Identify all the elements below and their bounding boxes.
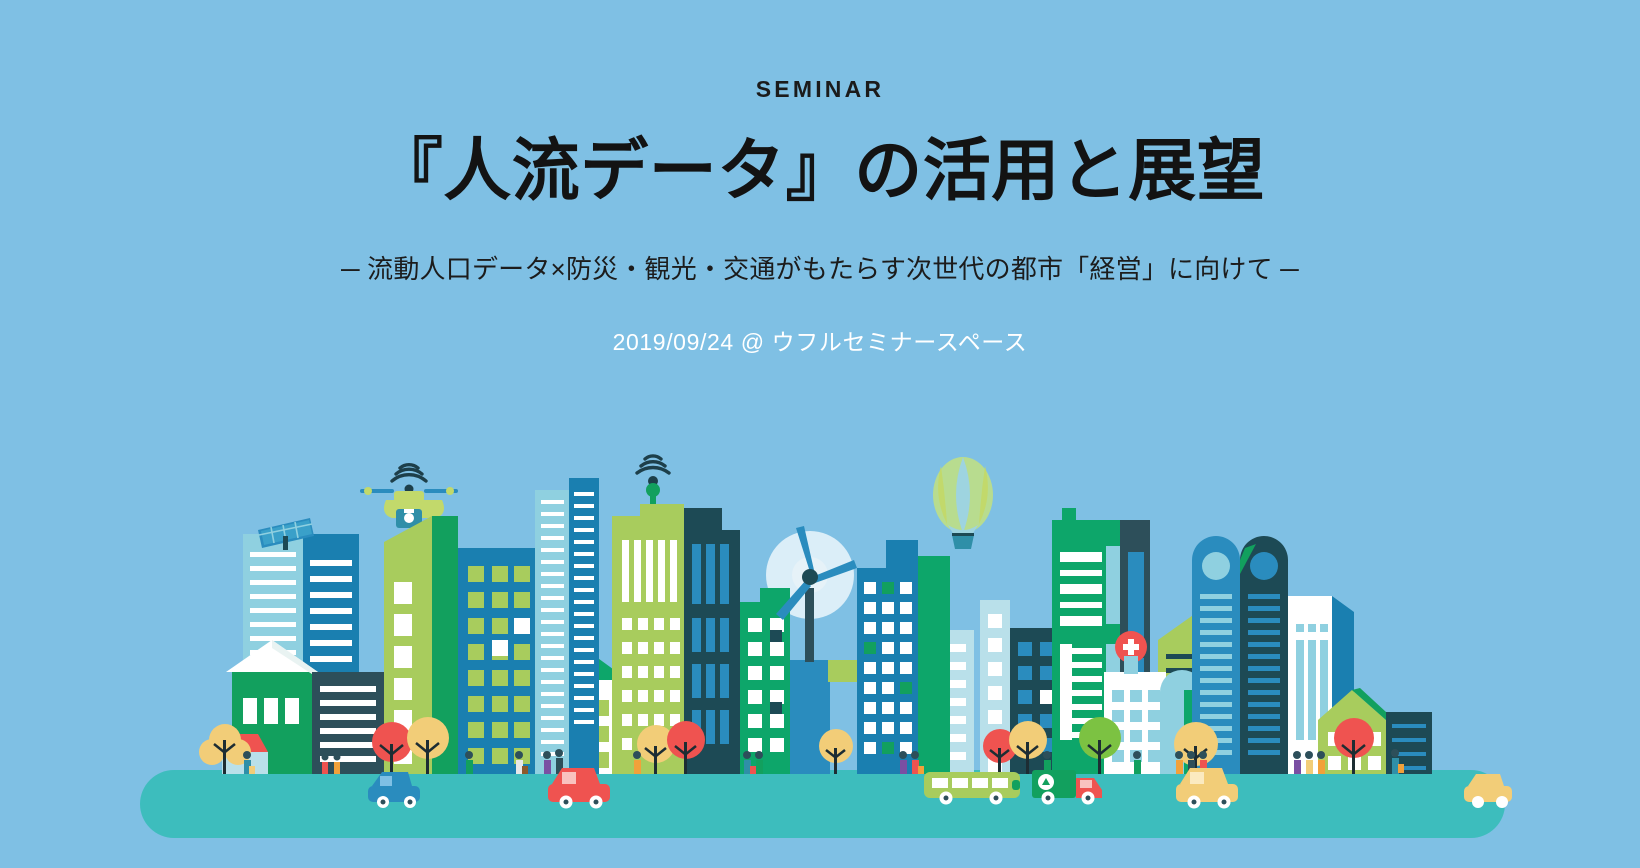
hot-air-balloon-icon — [933, 457, 993, 549]
ground-platform — [140, 770, 1505, 838]
page-subtitle: ─ 流動人口データ×防災・観光・交通がもたらす次世代の都市「経営」に向けて ─ — [0, 253, 1640, 286]
hospital-neck — [1124, 656, 1138, 674]
building-accent — [1128, 552, 1144, 642]
page-title: 『人流データ』の活用と展望 — [0, 135, 1640, 207]
building — [857, 540, 918, 774]
banner-text-block: SEMINAR 『人流データ』の活用と展望 ─ 流動人口データ×防災・観光・交通… — [0, 0, 1640, 354]
seminar-banner: SEMINAR 『人流データ』の活用と展望 ─ 流動人口データ×防災・観光・交通… — [0, 0, 1640, 868]
eyebrow-label: SEMINAR — [0, 78, 1640, 101]
wifi-antenna-icon — [637, 456, 669, 508]
window — [1202, 552, 1230, 580]
date-venue-label: 2019/09/24 @ ウフルセミナースペース — [0, 331, 1640, 354]
building-accent — [1106, 546, 1120, 624]
window — [1250, 552, 1278, 580]
cross-horz — [1123, 644, 1139, 650]
building — [918, 556, 950, 774]
building-accent — [1060, 644, 1072, 740]
